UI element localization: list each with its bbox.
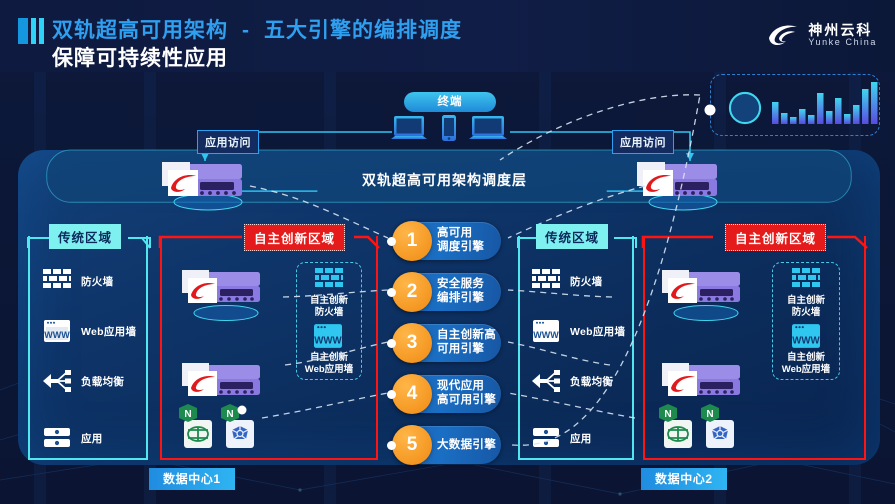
- engine-connector-dot: [387, 390, 396, 399]
- engine-number: 5: [392, 425, 432, 465]
- engine-connector-dot: [387, 441, 396, 450]
- engine-number: 4: [392, 374, 432, 414]
- page-title-primary: 双轨超高可用架构: [52, 19, 228, 42]
- engine-label-line1: 自主创新高: [437, 329, 496, 341]
- engine-label-line1: 高可用: [437, 227, 472, 239]
- engine-connector-dot: [387, 339, 396, 348]
- engine-label: 大数据引擎: [437, 426, 496, 464]
- engine-item-5[interactable]: 5 大数据引擎: [393, 426, 501, 464]
- engine-item-4[interactable]: 4 现代应用 高可用引擎: [393, 375, 501, 413]
- engine-label-line1: 大数据引擎: [437, 439, 496, 451]
- yunke-swoosh-icon: [767, 22, 801, 48]
- engine-number: 2: [392, 272, 432, 312]
- page-title-secondary: 五大引擎的编排调度: [264, 19, 462, 42]
- page-title-dash: -: [228, 19, 264, 42]
- engine-label-line2: 编排引擎: [437, 292, 484, 304]
- engine-connector-dot: [387, 237, 396, 246]
- engine-number: 3: [392, 323, 432, 363]
- page-title: 双轨超高可用架构-五大引擎的编排调度: [52, 14, 462, 44]
- zone-label-innovation-right: 自主创新区域: [725, 224, 826, 251]
- zone-label-innovation-left: 自主创新区域: [244, 224, 345, 251]
- engine-label: 自主创新高 可用引擎: [437, 329, 496, 357]
- brand-logo: 神州云科 Yunke China: [767, 22, 877, 48]
- engine-item-3[interactable]: 3 自主创新高 可用引擎: [393, 324, 501, 362]
- page-subtitle: 保障可持续性应用: [52, 42, 228, 72]
- datacenter-chip-right: 数据中心2: [641, 468, 727, 490]
- engine-label: 高可用 调度引擎: [437, 227, 484, 255]
- engine-connector-dot: [387, 288, 396, 297]
- engine-label-line1: 安全服务: [437, 278, 484, 290]
- engine-label: 安全服务 编排引擎: [437, 278, 484, 306]
- zone-label-traditional-right: 传统区域: [536, 224, 608, 249]
- logo-text-en: Yunke China: [808, 38, 877, 48]
- diagram-canvas: 双轨超高可用架构-五大引擎的编排调度 保障可持续性应用 神州云科 Yunke C…: [0, 0, 895, 504]
- engine-item-2[interactable]: 2 安全服务 编排引擎: [393, 273, 501, 311]
- datacenter-chip-left: 数据中心1: [149, 468, 235, 490]
- engine-label-line2: 高可用引擎: [437, 394, 496, 406]
- engine-item-1[interactable]: 1 高可用 调度引擎: [393, 222, 501, 260]
- engine-number: 1: [392, 221, 432, 261]
- engine-label-line2: 可用引擎: [437, 343, 484, 355]
- engine-label-line2: 调度引擎: [437, 241, 484, 253]
- logo-text-cn: 神州云科: [808, 23, 877, 38]
- zone-label-traditional-left: 传统区域: [49, 224, 121, 249]
- engine-label: 现代应用 高可用引擎: [437, 380, 496, 408]
- page-header: 双轨超高可用架构-五大引擎的编排调度 保障可持续性应用 神州云科 Yunke C…: [0, 0, 895, 72]
- header-accent-bars-icon: [18, 18, 44, 44]
- engine-label-line1: 现代应用: [437, 380, 484, 392]
